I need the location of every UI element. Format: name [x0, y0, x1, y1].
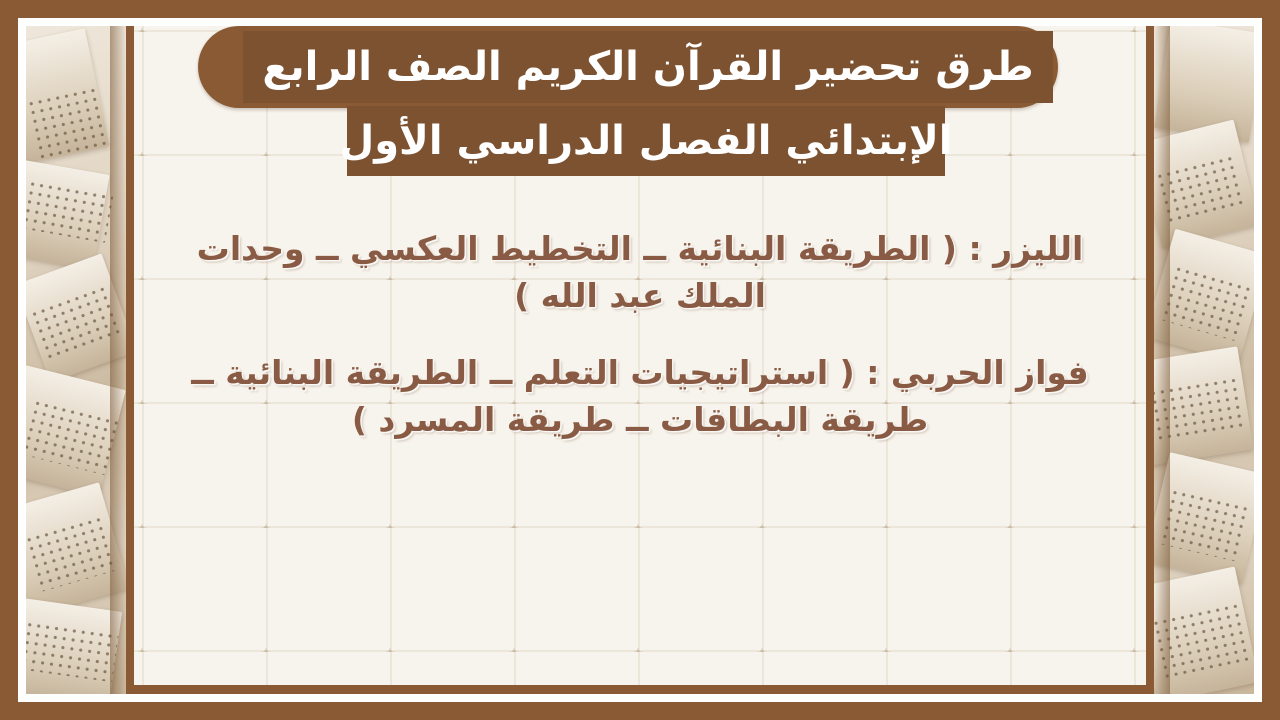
left-decorative-photo-panel [26, 26, 126, 694]
paragraph-laser-methods: الليزر : ( الطريقة البنائية ــ التخطيط ا… [142, 226, 1138, 320]
title-line2-text: الإبتدائي الفصل الدراسي الأول [339, 121, 952, 161]
panel-edge-shadow [1154, 26, 1170, 694]
perforated-pattern [26, 85, 110, 165]
body-text-area: الليزر : ( الطريقة البنائية ــ التخطيط ا… [142, 226, 1138, 443]
slide: الليزر : ( الطريقة البنائية ــ التخطيط ا… [0, 0, 1280, 720]
panel-edge-shadow [110, 26, 126, 694]
title-line1-text: طرق تحضير القرآن الكريم الصف الرابع [262, 47, 1033, 87]
right-decorative-photo-panel [1154, 26, 1254, 694]
title-line1-box: طرق تحضير القرآن الكريم الصف الرابع [243, 31, 1053, 103]
paragraph-fawaz-alharbi-methods: فواز الحربي : ( استراتيجيات التعلم ــ ال… [142, 350, 1138, 444]
title-line2-box: الإبتدائي الفصل الدراسي الأول [347, 106, 945, 176]
